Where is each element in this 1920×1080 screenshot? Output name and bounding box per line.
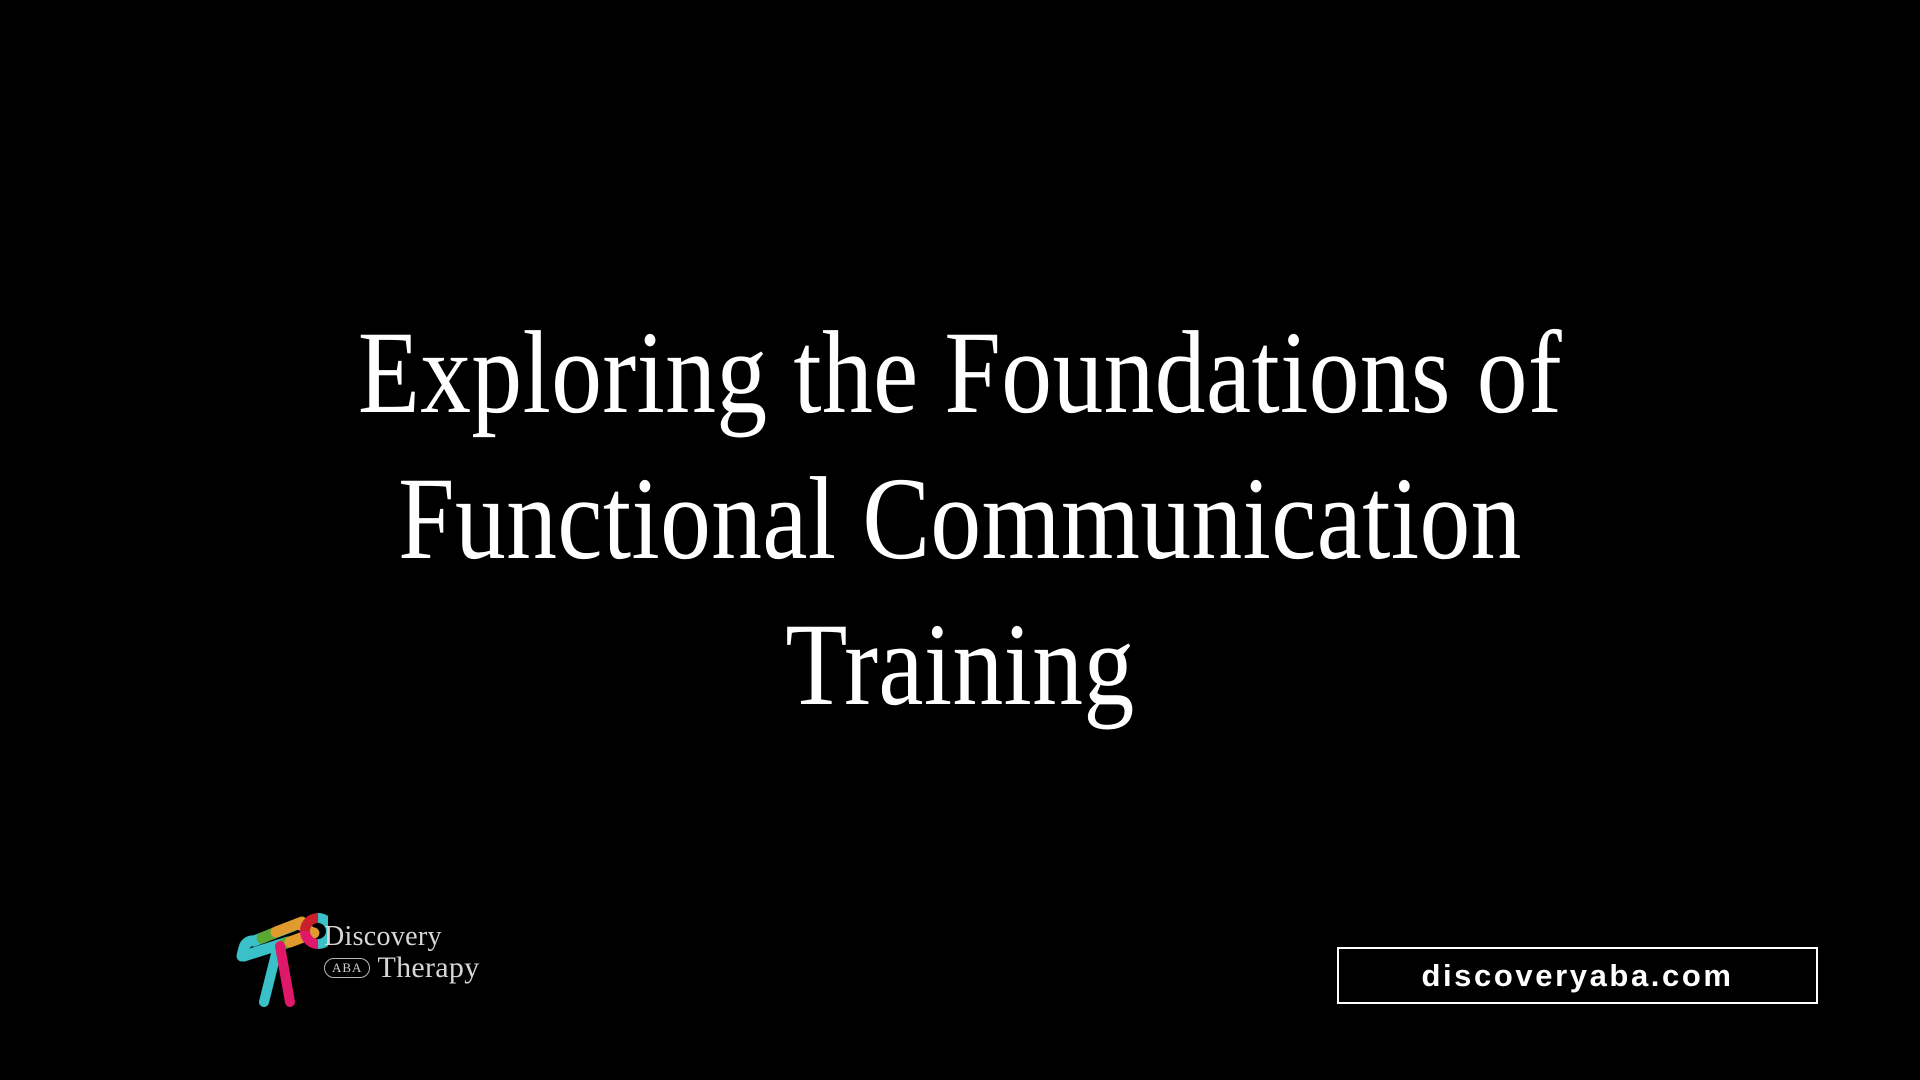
logo-aba-badge: ABA <box>324 958 370 978</box>
title-line-2: Functional Communication <box>134 446 1785 592</box>
title-line-1: Exploring the Foundations of <box>134 300 1785 446</box>
telescope-icon <box>232 898 328 1008</box>
page-title: Exploring the Foundations of Functional … <box>0 300 1920 738</box>
website-url-badge[interactable]: discoveryaba.com <box>1337 947 1818 1004</box>
logo-wordmark: Discovery ABA Therapy <box>324 923 480 983</box>
logo-word-discovery: Discovery <box>324 923 480 951</box>
logo-bottom-row: ABA Therapy <box>324 953 480 983</box>
presentation-slide: Exploring the Foundations of Functional … <box>0 0 1920 1080</box>
title-line-3: Training <box>134 592 1785 738</box>
brand-logo[interactable]: Discovery ABA Therapy <box>232 898 432 1008</box>
website-url-text: discoveryaba.com <box>1421 958 1733 994</box>
logo-word-therapy: Therapy <box>377 953 479 983</box>
